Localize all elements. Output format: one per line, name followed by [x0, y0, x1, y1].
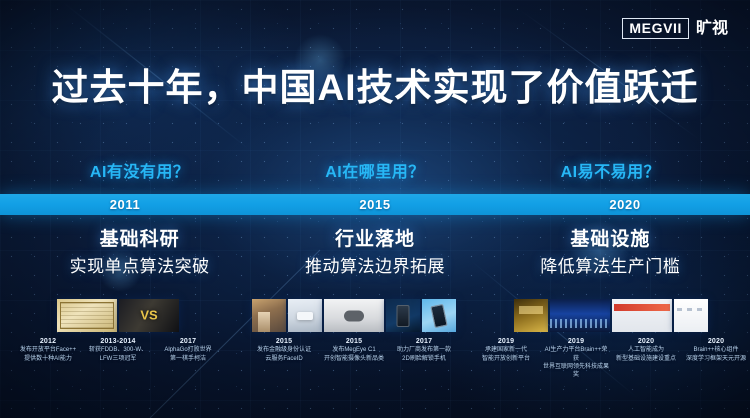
question-2: AI在哪里用？ — [257, 158, 492, 182]
caption-line2: 开创智能摄像头新品类 — [320, 355, 388, 363]
news-banner-thumbnail — [612, 299, 672, 332]
section-2: 行业落地 推动算法边界拓展 — [257, 228, 492, 277]
brand-logo: MEGVII 旷视 — [622, 18, 728, 39]
section-3-subheading: 降低算法生产门槛 — [493, 256, 728, 277]
caption-item: 2015 发布金融级身份认证 云服务FaceID — [250, 337, 318, 363]
thumbnail-strip-3 — [472, 296, 750, 332]
caption-row-3: 2019 承建国家新一代 智能开放创新平台 2019 AI生产力平台Brain+… — [472, 337, 750, 379]
caption-line1: 发布开放平台Face++ — [14, 346, 82, 354]
product-box-thumbnail — [288, 299, 322, 332]
alphago-match-thumbnail — [119, 299, 179, 332]
phone-face-thumbnail — [422, 299, 456, 332]
caption-line1: 发布金融级身份认证 — [250, 346, 318, 354]
timeline-year-2015: 2015 — [250, 197, 500, 212]
caption-line2: 云服务FaceID — [250, 355, 318, 363]
question-3: AI易不易用？ — [493, 158, 728, 182]
caption-row-2: 2015 发布金融级身份认证 云服务FaceID 2015 发布MegEye C… — [236, 337, 472, 363]
thumbnail-strip-1 — [0, 296, 236, 332]
caption-year: 2015 — [250, 337, 318, 346]
milestone-group-3: 2019 承建国家新一代 智能开放创新平台 2019 AI生产力平台Brain+… — [472, 296, 750, 382]
caption-item: 2019 AI生产力平台Brain++荣获 世界互联网领先科技成果奖 — [542, 337, 610, 379]
caption-line1: 助力厂商发布第一款 — [390, 346, 458, 354]
timeline-bar: 2011 2015 2020 — [0, 194, 750, 215]
caption-year: 2017 — [154, 337, 222, 346]
caption-item: 2017 AlphaGo打败世界 第一棋手柯洁 — [154, 337, 222, 363]
caption-item: 2020 人工智能成为 新型基础设施建设重点 — [612, 337, 680, 379]
section-3-heading: 基础设施 — [493, 228, 728, 252]
thumbnail-strip-2 — [236, 296, 472, 332]
section-2-subheading: 推动算法边界拓展 — [257, 256, 492, 277]
caption-line2: 世界互联网领先科技成果奖 — [542, 363, 610, 379]
caption-line1: 承建国家新一代 — [472, 346, 540, 354]
caption-year: 2019 — [472, 337, 540, 346]
caption-year: 2013-2014 — [84, 337, 152, 346]
caption-item: 2017 助力厂商发布第一款 2D刷脸解锁手机 — [390, 337, 458, 363]
caption-line1: Brain++核心组件 — [682, 346, 750, 354]
caption-line1: 发布MegEye C1 — [320, 346, 388, 354]
question-1: AI有没有用？ — [22, 158, 257, 182]
caption-line1: AI生产力平台Brain++荣获 — [542, 346, 610, 362]
section-headings: 基础科研 实现单点算法突破 行业落地 推动算法边界拓展 基础设施 降低算法生产门… — [22, 228, 728, 277]
section-2-heading: 行业落地 — [257, 228, 492, 252]
caption-year: 2015 — [320, 337, 388, 346]
caption-year: 2012 — [14, 337, 82, 346]
open-source-thumbnail — [674, 299, 708, 332]
caption-item: 2020 Brain++核心组件 深度学习框架天元开源 — [682, 337, 750, 379]
caption-item: 2019 承建国家新一代 智能开放创新平台 — [472, 337, 540, 379]
question-row: AI有没有用？ AI在哪里用？ AI易不易用？ — [22, 158, 728, 182]
caption-line2: 提供数十种AI能力 — [14, 355, 82, 363]
retail-store-thumbnail — [252, 299, 286, 332]
gold-award-thumbnail — [514, 299, 548, 332]
caption-item: 2013-2014 斩获FDDB、300-W、 LFW三项冠军 — [84, 337, 152, 363]
section-3: 基础设施 降低算法生产门槛 — [493, 228, 728, 277]
caption-line2: 2D刷脸解锁手机 — [390, 355, 458, 363]
caption-year: 2020 — [682, 337, 750, 346]
section-1: 基础科研 实现单点算法突破 — [22, 228, 257, 277]
caption-line2: LFW三项冠军 — [84, 355, 152, 363]
caption-year: 2020 — [612, 337, 680, 346]
caption-year: 2019 — [542, 337, 610, 346]
milestone-group-2: 2015 发布金融级身份认证 云服务FaceID 2015 发布MegEye C… — [236, 296, 472, 382]
logo-chinese-name: 旷视 — [696, 21, 728, 37]
caption-item: 2015 发布MegEye C1 开创智能摄像头新品类 — [320, 337, 388, 363]
caption-line2: 深度学习框架天元开源 — [682, 355, 750, 363]
phone-unlock-thumbnail — [386, 299, 420, 332]
certificate-thumbnail — [57, 299, 117, 332]
timeline-year-2020: 2020 — [500, 197, 750, 212]
timeline-year-2011: 2011 — [0, 197, 250, 212]
caption-year: 2017 — [390, 337, 458, 346]
megeye-camera-thumbnail — [324, 299, 384, 332]
page-title: 过去十年，中国AI技术实现了价值跃迁 — [0, 68, 750, 109]
caption-line2: 智能开放创新平台 — [472, 355, 540, 363]
caption-row-1: 2012 发布开放平台Face++ 提供数十种AI能力 2013-2014 斩获… — [0, 337, 236, 363]
caption-line1: 斩获FDDB、300-W、 — [84, 346, 152, 354]
caption-line2: 新型基础设施建设重点 — [612, 355, 680, 363]
milestone-group-1: 2012 发布开放平台Face++ 提供数十种AI能力 2013-2014 斩获… — [0, 296, 236, 382]
milestone-groups: 2012 发布开放平台Face++ 提供数十种AI能力 2013-2014 斩获… — [0, 296, 750, 382]
caption-item: 2012 发布开放平台Face++ 提供数十种AI能力 — [14, 337, 82, 363]
caption-line1: AlphaGo打败世界 — [154, 346, 222, 354]
section-1-subheading: 实现单点算法突破 — [22, 256, 257, 277]
caption-line2: 第一棋手柯洁 — [154, 355, 222, 363]
caption-line1: 人工智能成为 — [612, 346, 680, 354]
presentation-slide: MEGVII 旷视 过去十年，中国AI技术实现了价值跃迁 AI有没有用？ AI在… — [0, 0, 750, 418]
section-1-heading: 基础科研 — [22, 228, 257, 252]
logo-wordmark: MEGVII — [622, 18, 689, 39]
conference-stage-thumbnail — [550, 299, 610, 332]
